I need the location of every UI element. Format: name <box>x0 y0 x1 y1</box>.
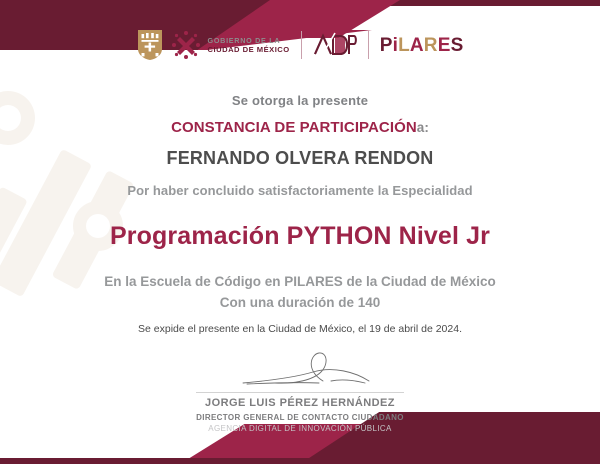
signature-rule <box>196 392 404 393</box>
issue-line: Se expide el presente en la Ciudad de Mé… <box>0 323 600 335</box>
signatory-name: JORGE LUIS PÉREZ HERNÁNDEZ <box>0 397 600 409</box>
award-intro-text: Se otorga la presente <box>0 93 600 108</box>
certificate-body: Se otorga la presente CONSTANCIA DE PART… <box>0 0 600 464</box>
award-type-line: CONSTANCIA DE PARTICIPACIÓNa: <box>0 119 600 136</box>
duration-line: Con una duración de 140 <box>0 295 600 310</box>
school-line: En la Escuela de Código en PILARES de la… <box>0 274 600 289</box>
handwritten-signature-icon <box>235 348 375 390</box>
award-connector-text: a: <box>417 120 429 135</box>
signatory-role: DIRECTOR GENERAL DE CONTACTO CIUDADANO <box>0 413 600 422</box>
completion-text: Por haber concluido satisfactoriamente l… <box>0 183 600 198</box>
signatory-organization: AGENCIA DIGITAL DE INNOVACIÓN PÚBLICA <box>0 424 600 433</box>
certificate-document: GOBIERNO DE LA CIUDAD DE MÉXICO P i L A … <box>0 0 600 464</box>
recipient-name: FERNANDO OLVERA RENDON <box>0 148 600 169</box>
award-type-text: CONSTANCIA DE PARTICIPACIÓN <box>171 119 417 136</box>
course-name: Programación PYTHON Nivel Jr <box>0 222 600 251</box>
